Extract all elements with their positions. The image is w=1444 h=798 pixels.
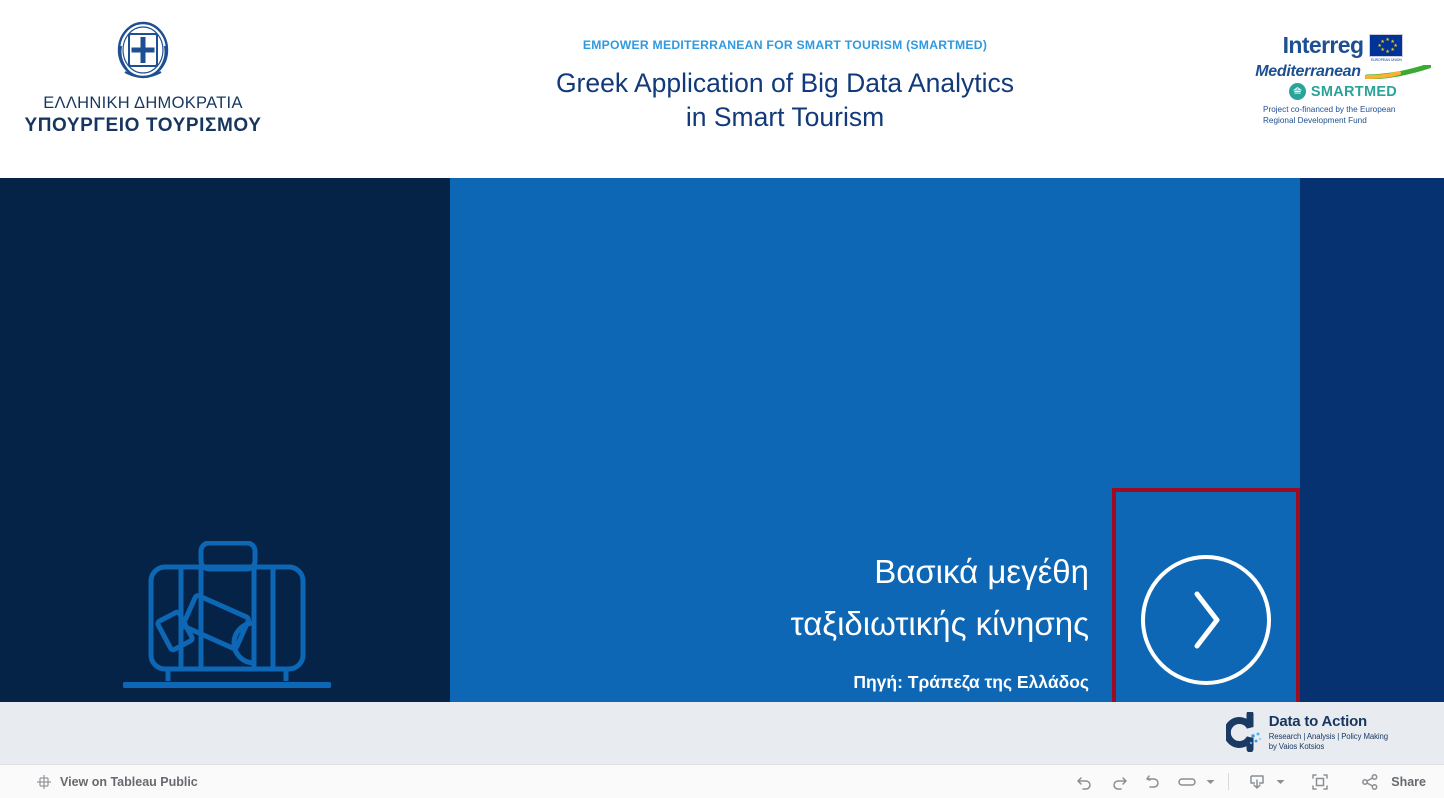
data-to-action-logo: Data to Action Research | Analysis | Pol…	[1226, 712, 1388, 752]
refresh-icon[interactable]	[1176, 772, 1198, 792]
eu-flag-caption: EUROPEAN UNION	[1369, 58, 1403, 62]
header: ΕΛΛΗΝΙΚΗ ΔΗΜΟΚΡΑΤΙΑ ΥΠΟΥΡΓΕΙΟ ΤΟΥΡΙΣΜΟΥ …	[0, 0, 1444, 178]
dashboard-source: Πηγή: Τράπεζα της Ελλάδος	[569, 672, 1089, 693]
toolbar-divider	[1228, 773, 1229, 790]
swoosh-icon	[1365, 65, 1431, 79]
smartmed-wordmark: SMARTMED	[1311, 84, 1397, 100]
ministry-logo: ΕΛΛΗΝΙΚΗ ΔΗΜΟΚΡΑΤΙΑ ΥΠΟΥΡΓΕΙΟ ΤΟΥΡΙΣΜΟΥ	[0, 20, 286, 137]
revert-button[interactable]	[1136, 767, 1170, 797]
ministry-line1: ΕΛΛΗΝΙΚΗ ΔΗΜΟΚΡΑΤΙΑ	[43, 94, 243, 113]
chevron-right-icon[interactable]	[1141, 555, 1271, 685]
title-block: EMPOWER MEDITERRANEAN FOR SMART TOURISM …	[430, 38, 1140, 134]
brand-title: Data to Action	[1269, 714, 1388, 729]
dashboard-board: Βασικά μεγέθη ταξιδιωτικής κίνησης Πηγή:…	[0, 178, 1444, 702]
greek-republic-emblem-icon	[115, 20, 171, 86]
page-title-line2: in Smart Tourism	[430, 100, 1140, 134]
redo-button[interactable]	[1102, 767, 1136, 797]
dashboard-text-block: Βασικά μεγέθη ταξιδιωτικής κίνησης Πηγή:…	[569, 546, 1089, 693]
download-dropdown-button[interactable]	[1274, 779, 1287, 785]
toolbar-right-group: Share	[1068, 767, 1444, 797]
dashboard-title-line2: ταξιδιωτικής κίνησης	[569, 598, 1089, 650]
smartmed-badge-icon	[1289, 83, 1306, 100]
view-on-tableau-public-link[interactable]: View on Tableau Public	[60, 775, 198, 789]
refresh-button[interactable]	[1170, 767, 1204, 797]
ministry-line2: ΥΠΟΥΡΓΕΙΟ ΤΟΥΡΙΣΜΟΥ	[24, 115, 261, 137]
undo-icon[interactable]	[1075, 772, 1095, 792]
dashboard-title-line1: Βασικά μεγέθη	[569, 546, 1089, 598]
right-dark-panel	[1300, 178, 1444, 702]
tableau-toolbar: View on Tableau Public	[0, 764, 1444, 798]
download-icon[interactable]	[1247, 772, 1267, 792]
footer-brand-strip: Data to Action Research | Analysis | Pol…	[0, 702, 1444, 764]
share-icon[interactable]	[1360, 772, 1380, 792]
brand-subtitle-1: Research | Analysis | Policy Making	[1269, 733, 1388, 741]
eu-fund-line1: Project co-financed by the European	[1263, 105, 1423, 116]
download-button[interactable]	[1240, 767, 1274, 797]
suitcase-icon	[123, 541, 331, 701]
share-button[interactable]	[1353, 767, 1387, 797]
eu-fund-line2: Regional Development Fund	[1263, 116, 1423, 127]
interreg-wordmark: Interreg	[1283, 34, 1364, 57]
chevron-down-icon[interactable]	[1206, 779, 1215, 785]
fullscreen-button[interactable]	[1303, 767, 1337, 797]
revert-icon[interactable]	[1143, 772, 1163, 792]
undo-button[interactable]	[1068, 767, 1102, 797]
eu-fund-note: Project co-financed by the European Regi…	[1263, 105, 1423, 126]
data-to-action-mark-icon	[1226, 712, 1262, 752]
share-label[interactable]: Share	[1391, 775, 1430, 789]
page-title-line1: Greek Application of Big Data Analytics	[430, 66, 1140, 100]
eu-flag-icon: ★ ★ ★ ★ ★ ★ ★ ★	[1369, 34, 1403, 57]
dashboard-title: Βασικά μεγέθη ταξιδιωτικής κίνησης	[569, 546, 1089, 650]
page-title: Greek Application of Big Data Analytics …	[430, 66, 1140, 134]
fullscreen-icon[interactable]	[1310, 772, 1330, 792]
interreg-mediterranean: Mediterranean	[1255, 63, 1360, 81]
refresh-dropdown-button[interactable]	[1204, 779, 1217, 785]
tableau-icon[interactable]	[36, 774, 52, 790]
interreg-logo: Interreg ★ ★ ★ ★ ★ ★ ★ ★ EUROPEAN UNION	[1250, 34, 1436, 126]
brand-subtitle-2: by Vaios Kotsios	[1269, 743, 1388, 751]
dashboard-page: ΕΛΛΗΝΙΚΗ ΔΗΜΟΚΡΑΤΙΑ ΥΠΟΥΡΓΕΙΟ ΤΟΥΡΙΣΜΟΥ …	[0, 0, 1444, 798]
chevron-down-icon[interactable]	[1276, 779, 1285, 785]
redo-icon[interactable]	[1109, 772, 1129, 792]
toolbar-left-group: View on Tableau Public	[0, 774, 198, 790]
project-eyebrow: EMPOWER MEDITERRANEAN FOR SMART TOURISM …	[430, 38, 1140, 52]
